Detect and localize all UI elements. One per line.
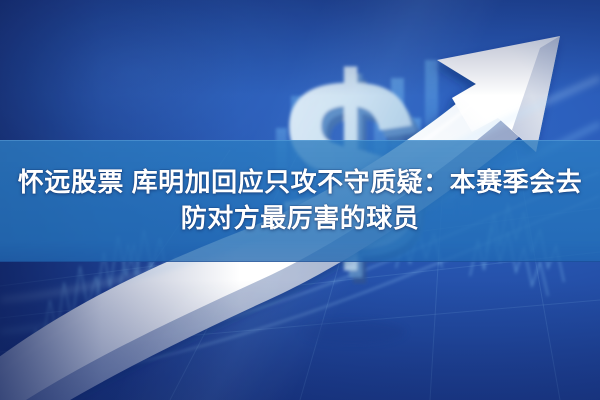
band-bottom-edge: [0, 261, 600, 262]
article-thumbnail: $ $ $: [0, 0, 600, 400]
band-top-edge: [0, 140, 600, 141]
headline-overlay-band: [0, 140, 600, 262]
